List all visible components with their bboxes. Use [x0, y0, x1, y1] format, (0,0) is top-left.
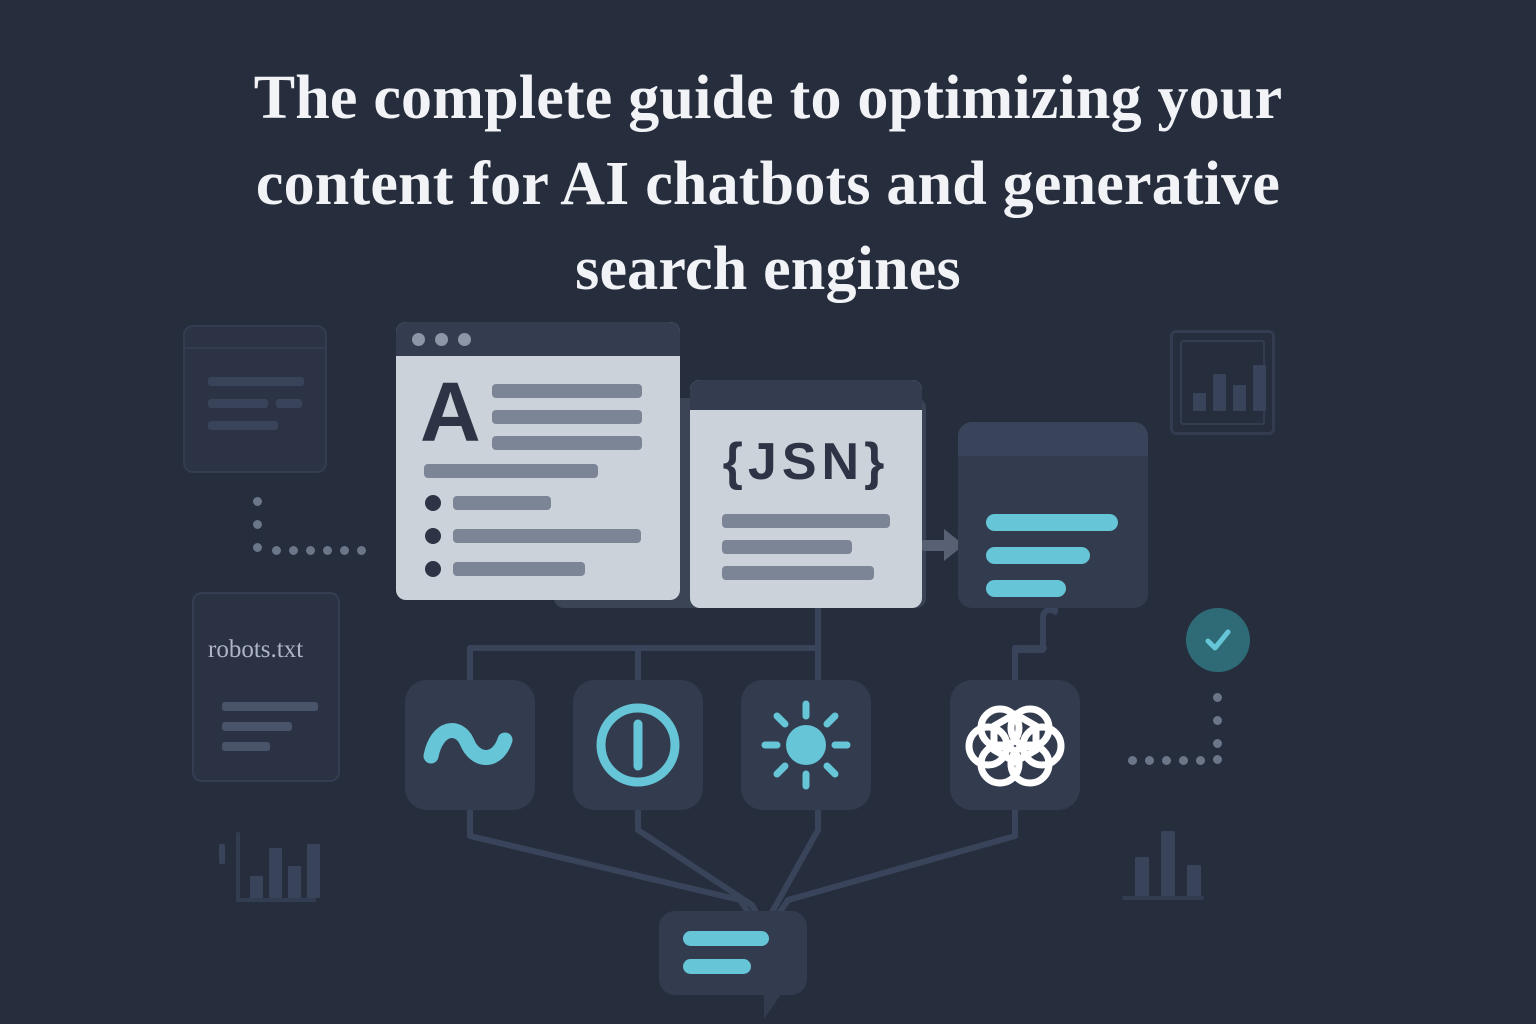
background-content-card [183, 325, 327, 473]
analytics-chart-framed [1170, 330, 1275, 435]
heading-line [492, 436, 642, 450]
json-code-line [722, 566, 874, 580]
analytics-chart-left [236, 832, 316, 902]
page-title-line-1: The complete guide to optimizing your [254, 64, 1283, 132]
chart-bar [1135, 857, 1149, 896]
robots-rule-line [222, 722, 292, 731]
ghost-card-line [208, 421, 278, 430]
perplexity-icon[interactable] [573, 680, 703, 810]
chart-bar [307, 844, 320, 898]
bubble-tail [764, 993, 782, 1019]
answer-line [986, 547, 1090, 564]
page-title-line-2: content for AI chatbots and generative [256, 150, 1280, 218]
ai-answer-card [958, 422, 1148, 608]
chart-bar [1187, 865, 1201, 896]
answer-line [986, 580, 1066, 597]
openai-knot-icon [950, 680, 1080, 810]
list-item-line [453, 529, 641, 543]
chart-bar [1161, 831, 1175, 896]
chart-axis-x [236, 898, 316, 902]
connector-perplexity-to-bubble [638, 800, 756, 912]
check-icon [1198, 620, 1238, 660]
robots-txt-document: robots.txt [192, 592, 340, 782]
json-card-titlebar [690, 380, 922, 410]
close-icon[interactable] [412, 333, 425, 346]
ghost-card-line [208, 399, 268, 408]
json-card-body: {JSN} [690, 410, 922, 608]
ghost-card-line [276, 399, 302, 408]
json-code-line [722, 514, 890, 528]
connector-claude-to-bubble [470, 800, 748, 912]
json-label: {JSN} [690, 432, 922, 492]
chart-bar [250, 876, 263, 898]
list-item-line [453, 496, 551, 510]
chart-axis-y [236, 832, 240, 902]
wave-squiggle-icon [405, 680, 535, 810]
circle-bar-icon [573, 680, 703, 810]
robots-txt-label: robots.txt [208, 636, 303, 664]
chart-axis-x [1122, 896, 1204, 900]
heading-line [492, 410, 642, 424]
verified-check-badge [1186, 608, 1250, 672]
robots-rule-line [222, 742, 270, 751]
ghost-card-line [208, 377, 304, 386]
answer-line [986, 514, 1118, 531]
chart-bar [1193, 393, 1206, 411]
chart-bar [1253, 365, 1266, 411]
reply-line [683, 959, 751, 974]
content-letter-glyph: A [420, 370, 481, 454]
flow-arrow-shaft [922, 540, 946, 551]
content-document-window: A [396, 322, 680, 600]
chart-bar [269, 848, 282, 898]
minimize-icon[interactable] [435, 333, 448, 346]
window-titlebar [396, 322, 680, 356]
ghost-card-titlebar [185, 327, 325, 349]
ai-response-bubble [659, 911, 807, 995]
json-schema-card: {JSN} [690, 380, 922, 608]
page-title: The complete guide to optimizing your co… [0, 56, 1536, 313]
connector-output-to-openai [1015, 610, 1055, 690]
reply-line [683, 931, 769, 946]
list-bullet [425, 495, 441, 511]
connector-openai-to-bubble [780, 800, 1015, 912]
chart-bar [288, 866, 301, 898]
answer-card-titlebar [958, 422, 1148, 456]
connector-gemini-to-bubble [772, 800, 818, 912]
sun-sparkle-icon [741, 680, 871, 810]
analytics-chart-right [1122, 828, 1204, 900]
page-title-line-3: search engines [575, 235, 961, 303]
chart-bar [1213, 374, 1226, 411]
claude-wave-icon[interactable] [405, 680, 535, 810]
json-code-line [722, 540, 852, 554]
chart-frame-inner [1180, 340, 1265, 425]
list-item-line [453, 562, 585, 576]
robots-rule-line [222, 702, 318, 711]
heading-line [492, 384, 642, 398]
list-bullet [425, 561, 441, 577]
paragraph-line [424, 464, 598, 478]
illustration-stage: The complete guide to optimizing your co… [0, 0, 1536, 1024]
chart-tick-left [219, 844, 225, 864]
maximize-icon[interactable] [458, 333, 471, 346]
list-bullet [425, 528, 441, 544]
openai-icon[interactable] [950, 680, 1080, 810]
gemini-sun-icon[interactable] [741, 680, 871, 810]
window-body: A [396, 356, 680, 600]
chart-bar [1233, 385, 1246, 411]
